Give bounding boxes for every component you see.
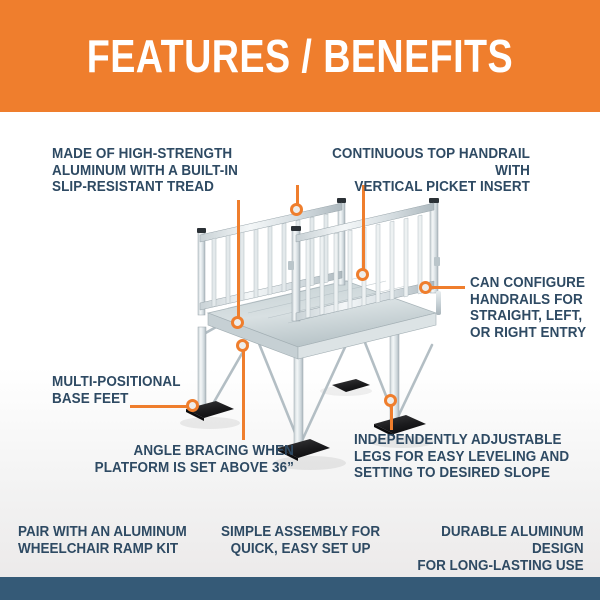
callout-label-adjustable-legs: INDEPENDENTLY ADJUSTABLE LEGS FOR EASY L… [354,432,577,482]
callout-dot-tread [231,316,244,329]
connector-bracing [242,345,245,440]
callout-label-tread: MADE OF HIGH-STRENGTH ALUMINUM WITH A BU… [52,146,238,196]
callout-dot-handrail [290,203,303,216]
connector-handrail [296,185,299,205]
header-banner: FEATURES / BENEFITS [0,0,600,112]
callout-dot-basefeet [186,399,199,412]
infographic-canvas: FEATURES / BENEFITS [0,0,600,600]
footer-captions: PAIR WITH AN ALUMINUM WHEELCHAIR RAMP KI… [0,520,600,570]
callout-label-configure: CAN CONFIGURE HANDRAILS FOR STRAIGHT, LE… [470,275,586,341]
connector-configure [430,286,465,289]
callout-dot-bracing [236,339,249,352]
footer-item-ramp-kit: PAIR WITH AN ALUMINUM WHEELCHAIR RAMP KI… [0,520,207,570]
callout-label-handrail: CONTINUOUS TOP HANDRAIL WITH VERTICAL PI… [309,146,530,196]
footer-item-assembly: SIMPLE ASSEMBLY FOR QUICK, EASY SET UP [207,520,396,570]
bottom-accent-bar [0,577,600,600]
callout-dot-configure [419,281,432,294]
footer-text-durable: DURABLE ALUMINUM DESIGN FOR LONG-LASTING… [409,524,584,575]
callout-label-angle-bracing: ANGLE BRACING WHEN PLATFORM IS SET ABOVE… [80,443,294,476]
callout-dot-handrail-b [356,268,369,281]
footer-text-ramp-kit: PAIR WITH AN ALUMINUM WHEELCHAIR RAMP KI… [18,524,187,558]
footer-item-durable: DURABLE ALUMINUM DESIGN FOR LONG-LASTING… [395,520,600,570]
connector-handrail-b [362,185,365,270]
page-title: FEATURES / BENEFITS [87,33,513,79]
footer-text-assembly: SIMPLE ASSEMBLY FOR QUICK, EASY SET UP [221,524,380,558]
callout-dot-legs [384,394,397,407]
connector-tread [237,200,240,318]
callout-label-base-feet: MULTI-POSITIONAL BASE FEET [52,374,181,407]
